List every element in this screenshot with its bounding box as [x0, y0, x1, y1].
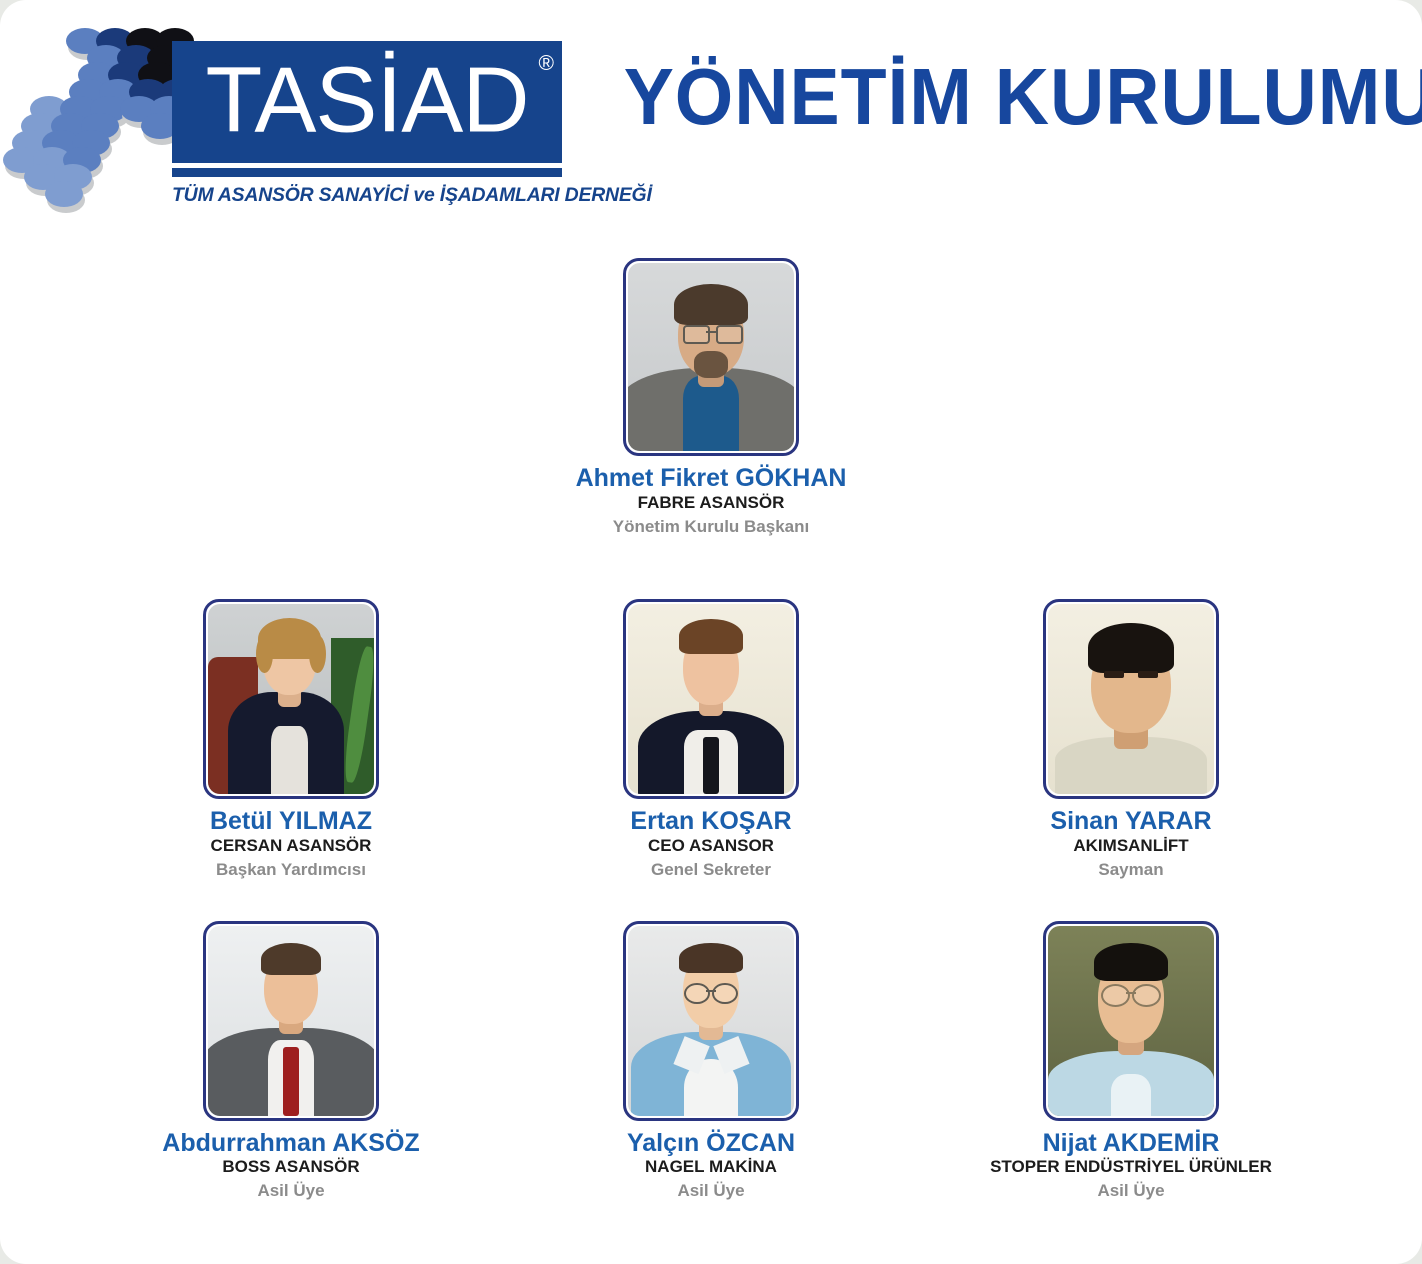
member-photo-frame — [203, 599, 379, 799]
member-role: Yönetim Kurulu Başkanı — [576, 517, 847, 537]
member-company: NAGEL MAKİNA — [627, 1157, 795, 1177]
portrait-sinan-yarar — [1048, 604, 1214, 794]
board-member-card[interactable]: Yalçın ÖZCAN NAGEL MAKİNA Asil Üye — [501, 921, 921, 1202]
member-photo-frame — [623, 921, 799, 1121]
board-row-chairman: Ahmet Fikret GÖKHAN FABRE ASANSÖR Yöneti… — [0, 258, 1422, 537]
registered-trademark-icon: ® — [539, 53, 554, 74]
page-header: TASİAD ® TÜM ASANSÖR SANAYİCİ ve İŞADAML… — [0, 0, 1422, 240]
board-member-card[interactable]: Ahmet Fikret GÖKHAN FABRE ASANSÖR Yöneti… — [501, 258, 921, 537]
member-caption: Ahmet Fikret GÖKHAN FABRE ASANSÖR Yöneti… — [576, 465, 847, 537]
tasiad-wordmark-text: TASİAD — [172, 54, 562, 147]
member-name: Sinan YARAR — [1050, 808, 1211, 835]
tasiad-wordmark-box: TASİAD ® — [172, 41, 562, 163]
member-name: Betül YILMAZ — [210, 808, 372, 835]
portrait-abdurrahman-aksoz — [208, 926, 374, 1116]
member-photo-frame — [1043, 599, 1219, 799]
portrait-nijat-akdemir — [1048, 926, 1214, 1116]
member-company: FABRE ASANSÖR — [576, 493, 847, 513]
portrait-betul-yilmaz — [208, 604, 374, 794]
member-role: Genel Sekreter — [630, 860, 791, 880]
portrait-yalcin-ozcan — [628, 926, 794, 1116]
board-row-officers: Betül YILMAZ CERSAN ASANSÖR Başkan Yardı… — [0, 599, 1422, 880]
member-caption: Betül YILMAZ CERSAN ASANSÖR Başkan Yardı… — [210, 808, 372, 880]
member-role: Sayman — [1050, 860, 1211, 880]
member-photo-frame — [203, 921, 379, 1121]
member-name: Ertan KOŞAR — [630, 808, 791, 835]
board-members-grid: Ahmet Fikret GÖKHAN FABRE ASANSÖR Yöneti… — [0, 258, 1422, 1202]
member-caption: Nijat AKDEMİR STOPER ENDÜSTRİYEL ÜRÜNLER… — [990, 1130, 1272, 1202]
member-company: CEO ASANSOR — [630, 836, 791, 856]
board-member-card[interactable]: Betül YILMAZ CERSAN ASANSÖR Başkan Yardı… — [81, 599, 501, 880]
member-company: STOPER ENDÜSTRİYEL ÜRÜNLER — [990, 1157, 1272, 1177]
member-company: BOSS ASANSÖR — [162, 1157, 419, 1177]
portrait-ahmet-fikret-gokhan — [628, 263, 794, 451]
portrait-ertan-kosar — [628, 604, 794, 794]
logo-disc — [45, 181, 85, 211]
page-title: YÖNETİM KURULUMUZ — [624, 57, 1367, 137]
member-caption: Abdurrahman AKSÖZ BOSS ASANSÖR Asil Üye — [162, 1130, 419, 1202]
board-row-members: Abdurrahman AKSÖZ BOSS ASANSÖR Asil Üye — [0, 921, 1422, 1202]
board-member-card[interactable]: Ertan KOŞAR CEO ASANSOR Genel Sekreter — [501, 599, 921, 880]
member-caption: Yalçın ÖZCAN NAGEL MAKİNA Asil Üye — [627, 1130, 795, 1202]
member-name: Ahmet Fikret GÖKHAN — [576, 465, 847, 492]
board-member-card[interactable]: Nijat AKDEMİR STOPER ENDÜSTRİYEL ÜRÜNLER… — [921, 921, 1341, 1202]
member-name: Nijat AKDEMİR — [990, 1130, 1272, 1157]
member-caption: Ertan KOŞAR CEO ASANSOR Genel Sekreter — [630, 808, 791, 880]
member-name: Yalçın ÖZCAN — [627, 1130, 795, 1157]
logo-divider-rule — [172, 168, 562, 177]
member-photo-frame — [1043, 921, 1219, 1121]
member-name: Abdurrahman AKSÖZ — [162, 1130, 419, 1157]
member-company: CERSAN ASANSÖR — [210, 836, 372, 856]
member-role: Asil Üye — [627, 1181, 795, 1201]
member-role: Asil Üye — [162, 1181, 419, 1201]
member-company: AKIMSANLİFT — [1050, 836, 1211, 856]
member-role: Başkan Yardımcısı — [210, 860, 372, 880]
member-photo-frame — [623, 258, 799, 456]
tasiad-logo: TASİAD ® TÜM ASANSÖR SANAYİCİ ve İŞADAML… — [172, 41, 562, 207]
board-of-directors-page: TASİAD ® TÜM ASANSÖR SANAYİCİ ve İŞADAML… — [0, 0, 1422, 1264]
board-member-card[interactable]: Abdurrahman AKSÖZ BOSS ASANSÖR Asil Üye — [81, 921, 501, 1202]
member-caption: Sinan YARAR AKIMSANLİFT Sayman — [1050, 808, 1211, 880]
logo-tagline: TÜM ASANSÖR SANAYİCİ ve İŞADAMLARI DERNE… — [172, 184, 568, 207]
board-member-card[interactable]: Sinan YARAR AKIMSANLİFT Sayman — [921, 599, 1341, 880]
member-role: Asil Üye — [990, 1181, 1272, 1201]
member-photo-frame — [623, 599, 799, 799]
tasiad-dot-arrow-logo-icon — [18, 28, 168, 213]
